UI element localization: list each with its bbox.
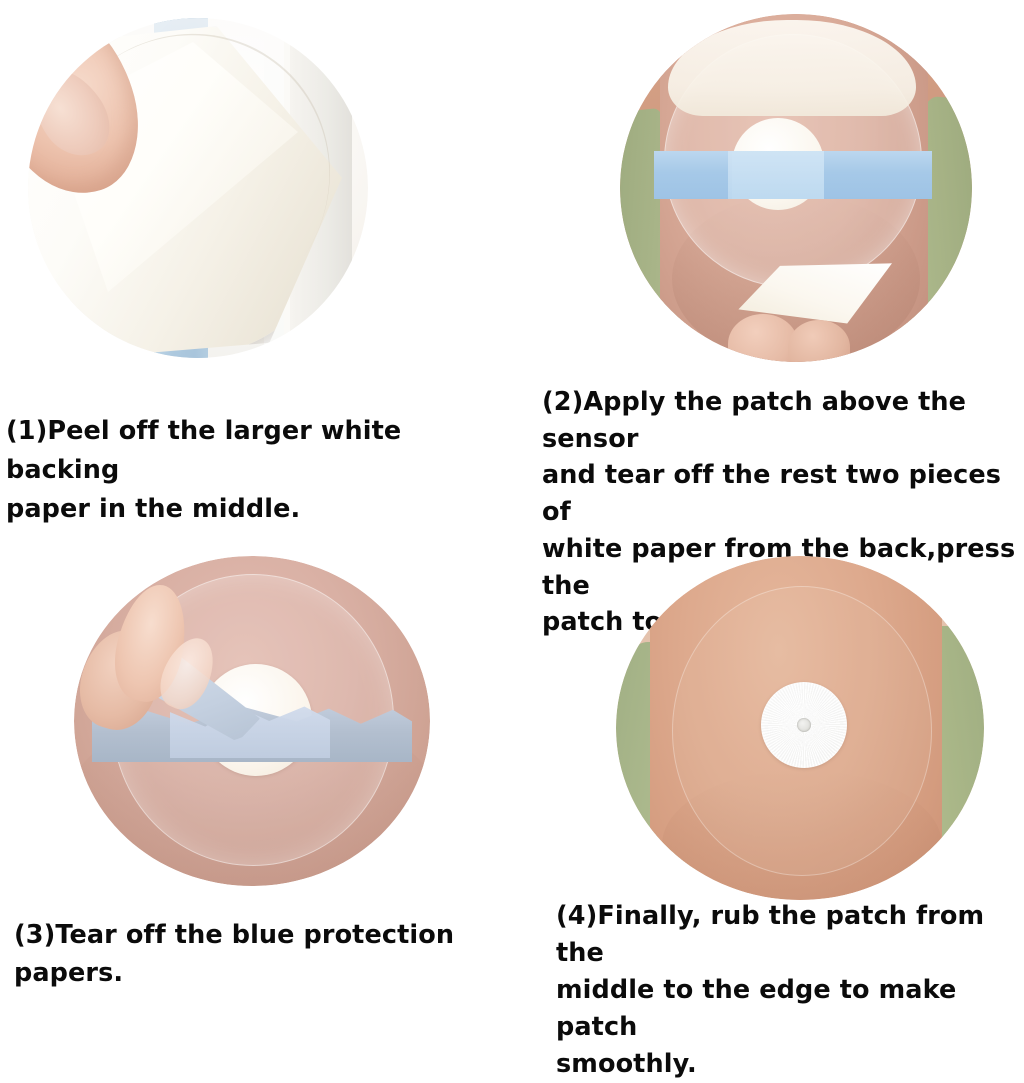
skin-disc [616, 556, 984, 900]
thumbnail [28, 56, 123, 170]
skin-disc [620, 14, 972, 362]
blue-strip-over-sensor [732, 151, 824, 199]
step-1-caption: (1)Peel off the larger white backing pap… [6, 412, 506, 528]
skin-disc [74, 556, 430, 886]
peel-backing-paper-photo [28, 18, 368, 358]
tear-blue-papers-photo [74, 556, 430, 886]
instruction-collage: (1)Peel off the larger white backing pap… [0, 0, 1024, 1024]
patch-disc [28, 18, 368, 358]
step-3-caption: (3)Tear off the blue protection papers. [14, 916, 534, 993]
step-4-caption: (4)Finally, rub the patch from the middl… [556, 898, 1024, 1083]
apply-patch-photo [620, 14, 972, 362]
sensor-center-nub [797, 718, 811, 732]
sensor-disc [761, 682, 847, 768]
rub-patch-photo [616, 556, 984, 900]
